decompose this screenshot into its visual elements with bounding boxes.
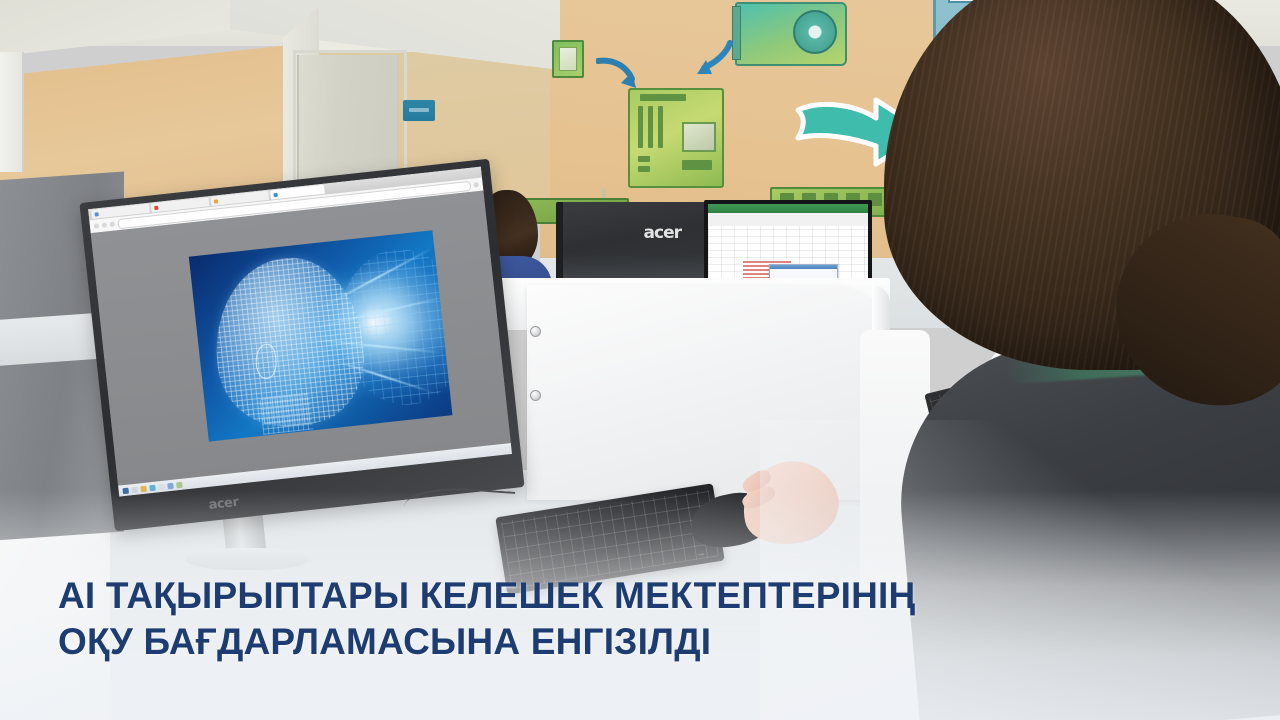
forward-icon[interactable]: [102, 222, 108, 228]
gpu-fan-icon: [793, 10, 837, 54]
whiteboard-edge: [0, 52, 24, 172]
wireframe-neck: [260, 393, 314, 435]
desk-privacy-divider: [527, 285, 889, 500]
reload-icon[interactable]: [110, 222, 116, 228]
monitor-main-screen: [88, 167, 512, 497]
tab-favicon-icon: [214, 199, 218, 203]
motherboard-ram-slots: [640, 94, 686, 101]
motherboard-slot: [658, 106, 663, 148]
tab-favicon-icon: [273, 192, 277, 196]
motherboard-connector: [638, 166, 650, 172]
motherboard-connector: [682, 160, 712, 170]
app-icon[interactable]: [167, 482, 174, 489]
keyboard-brand-mark: →: [696, 547, 706, 558]
tab-favicon-icon: [94, 212, 98, 216]
arrow-decal-small-2: [690, 40, 734, 82]
wireframe-head: [207, 251, 371, 433]
app-icon[interactable]: [158, 483, 165, 490]
headline-text: AI ТАҚЫРЫПТАРЫ КЕЛЕШЕК МЕКТЕПТЕРІНІҢ ОҚУ…: [58, 573, 1058, 665]
monitor-main: acer: [79, 159, 524, 532]
explorer-icon[interactable]: [140, 485, 147, 492]
motherboard-slot: [638, 106, 643, 148]
ai-wireframe-head-graphic: [189, 231, 452, 442]
spreadsheet-toolbar: [708, 213, 868, 227]
divider-bolt: [530, 390, 541, 401]
app-icon[interactable]: [176, 481, 183, 488]
motherboard-cpu-socket: [682, 122, 716, 152]
back-icon[interactable]: [94, 223, 100, 229]
menu-icon[interactable]: [473, 182, 479, 188]
tab-favicon-icon: [154, 205, 158, 209]
arrow-decal-small-1: [596, 57, 642, 91]
spreadsheet-ribbon: [708, 204, 868, 213]
cpu-chip-decal: [552, 40, 584, 78]
graphics-card-decal: [735, 2, 847, 66]
browser-viewport: [91, 191, 512, 497]
foreground-student: [884, 0, 1280, 434]
screenshot-canvas: acer: [0, 0, 1280, 720]
browser-icon[interactable]: [149, 484, 156, 491]
motherboard-slot: [648, 106, 653, 148]
door-plaque-sign: [403, 100, 435, 121]
monitor-main-stand-base: [185, 548, 309, 570]
start-icon[interactable]: [122, 487, 129, 494]
divider-bolt: [530, 326, 541, 337]
wireframe-ear: [254, 343, 279, 380]
motherboard-connector: [638, 156, 650, 162]
motherboard-decal: [628, 88, 724, 188]
search-icon[interactable]: [131, 486, 138, 493]
acer-logo-center: acer: [644, 223, 681, 243]
acer-logo-main: acer: [208, 495, 239, 513]
